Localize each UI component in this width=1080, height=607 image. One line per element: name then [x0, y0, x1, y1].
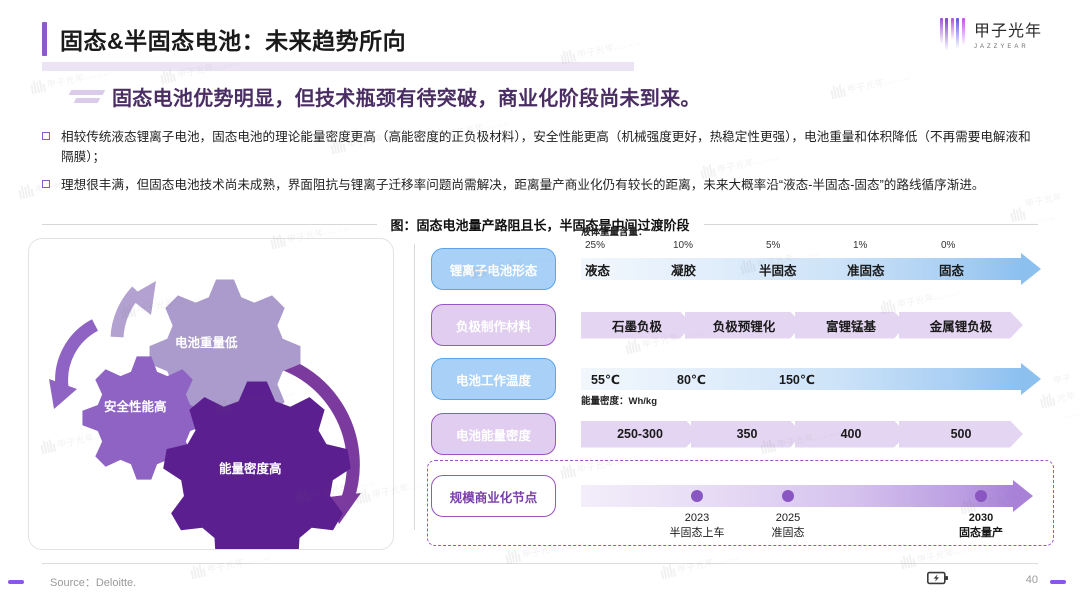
subtitle-label: 固态电池优势明显，但技术瓶颈有待突破，商业化阶段尚未到来。: [112, 82, 701, 111]
row-track: 液体重量含量： 25% 10% 5% 1% 0% 液态 凝胶 半固态 准固态: [581, 258, 1041, 280]
tick-label: 25%: [585, 240, 605, 251]
milestone-label: 2030 固态量产: [936, 511, 1026, 541]
tick-label: 10%: [673, 240, 693, 251]
row-caption: 液体重量含量：: [581, 224, 648, 238]
stage-value: 80℃: [677, 368, 706, 390]
milestone-dot: [782, 490, 794, 502]
stage-value: 液态: [585, 258, 610, 280]
gear-label-weight: 电池重量低: [175, 332, 238, 351]
stage-value: 55℃: [591, 368, 620, 390]
chevron-sequence: 石墨负极 负极预锂化 富锂锰基 金属锂负极: [581, 312, 1041, 339]
row-label-pill[interactable]: 电池能量密度: [431, 413, 556, 455]
milestone-text: 固态量产: [936, 526, 1026, 541]
chevron-item: 富锂锰基: [795, 312, 907, 339]
chevron-item: 石墨负极: [581, 312, 693, 339]
page-number: 40: [1026, 574, 1038, 586]
figure-rule-right: [704, 224, 1039, 225]
figure-body: 电池重量低 安全性能高 能量密度高 锂离子电池形态 液体重量含量： 25% 10…: [28, 238, 1052, 550]
tick-label: 5%: [766, 240, 780, 251]
bullet-text: 相较传统液态锂离子电池，固态电池的理论能量密度更高（高能密度的正负极材料），安全…: [61, 128, 1040, 167]
timeline-arrow: 2023 半固态上车 2025 准固态 2030 固态量产: [581, 485, 1041, 507]
tick-labels: 25% 10% 5% 1% 0%: [581, 240, 1021, 254]
source-label: Source：Deloitte.: [50, 574, 136, 590]
row-label-pill[interactable]: 锂离子电池形态: [431, 248, 556, 290]
subtitle-slash-decoration: [70, 90, 104, 103]
stage-value: 半固态: [759, 258, 797, 280]
watermark: 甲子光年JAZZYEAR: [189, 547, 272, 581]
vertical-divider: [414, 244, 415, 530]
logo-english-name: JAZZYEAR: [974, 44, 1042, 50]
title-underline: [42, 62, 634, 71]
milestone-text: 半固态上车: [652, 526, 742, 541]
diagram-row-anode-material: 负极制作材料 石墨负极 负极预锂化 富锂锰基 金属锂负极: [431, 304, 1041, 346]
figure-rule-left: [42, 224, 377, 225]
stage-value: 准固态: [847, 258, 885, 280]
chevron-item: 400: [795, 421, 907, 448]
figure-title: 图：固态电池量产路阻且长，半固态是中间过渡阶段: [0, 215, 1080, 234]
row-label-pill[interactable]: 电池工作温度: [431, 358, 556, 400]
milestone-year: 2023: [652, 511, 742, 526]
gradient-arrow-bar: 55℃ 80℃ 150℃: [581, 368, 1041, 390]
diagram-row-battery-form: 锂离子电池形态 液体重量含量： 25% 10% 5% 1% 0% 液态 凝胶 半…: [431, 248, 1041, 290]
footer-dash-right: [1050, 580, 1066, 584]
title-label: 固态&半固态电池：未来趋势所向: [47, 22, 406, 56]
row-track: 石墨负极 负极预锂化 富锂锰基 金属锂负极: [581, 312, 1041, 339]
row-label-pill[interactable]: 负极制作材料: [431, 304, 556, 346]
watermark: 甲子光年JAZZYEAR: [829, 67, 912, 101]
milestone-year: 2030: [936, 511, 1026, 526]
footer-divider: [42, 563, 1038, 564]
milestone-dot: [975, 490, 987, 502]
stage-value: 凝胶: [671, 258, 696, 280]
battery-charging-icon: [927, 571, 949, 585]
brand-logo: 甲子光年 JAZZYEAR: [940, 18, 1042, 52]
page-title: 固态&半固态电池：未来趋势所向: [42, 22, 406, 56]
milestone-dot: [691, 490, 703, 502]
chevron-item: 500: [899, 421, 1023, 448]
row-track: 55℃ 80℃ 150℃: [581, 368, 1041, 390]
bullet-square-icon: [42, 180, 50, 188]
logo-chinese-name: 甲子光年: [974, 24, 1042, 40]
tick-label: 0%: [941, 240, 955, 251]
list-item: 理想很丰满，但固态电池技术尚未成熟，界面阻抗与锂离子迁移率问题尚需解决，距离量产…: [42, 176, 1040, 196]
tick-label: 1%: [853, 240, 867, 251]
milestone-year: 2025: [743, 511, 833, 526]
gear-label-energy: 能量密度高: [219, 458, 282, 477]
logo-bars-icon: [940, 18, 965, 52]
chevron-item: 350: [691, 421, 803, 448]
stage-value: 150℃: [779, 368, 815, 390]
stage-value: 固态: [939, 258, 964, 280]
list-item: 相较传统液态锂离子电池，固态电池的理论能量密度更高（高能密度的正负极材料），安全…: [42, 128, 1040, 167]
milestone-label: 2025 准固态: [743, 511, 833, 541]
diagram-row-commercialization-timeline: 规模商业化节点 2023 半固态上车 2025 准固态: [431, 475, 1041, 517]
process-diagram: 锂离子电池形态 液体重量含量： 25% 10% 5% 1% 0% 液态 凝胶 半…: [431, 238, 1052, 550]
watermark: 甲子光年JAZZYEAR: [659, 547, 742, 581]
diagram-row-operating-temp: 电池工作温度 55℃ 80℃ 150℃: [431, 358, 1041, 400]
bullet-list: 相较传统液态锂离子电池，固态电池的理论能量密度更高（高能密度的正负极材料），安全…: [42, 128, 1040, 205]
milestone-label: 2023 半固态上车: [652, 511, 742, 541]
gradient-arrow-bar: 25% 10% 5% 1% 0% 液态 凝胶 半固态 准固态 固态: [581, 258, 1041, 280]
gear-label-safety: 安全性能高: [104, 396, 167, 415]
row-label-pill[interactable]: 规模商业化节点: [431, 475, 556, 517]
gear-diagram-svg: [29, 239, 394, 550]
milestone-text: 准固态: [743, 526, 833, 541]
chevron-item: 金属锂负极: [899, 312, 1023, 339]
gear-diagram-card: 电池重量低 安全性能高 能量密度高: [28, 238, 394, 550]
chevron-item: 负极预锂化: [685, 312, 803, 339]
diagram-row-energy-density: 电池能量密度 能量密度：Wh/kg 250-300 350 400 500: [431, 413, 1041, 455]
bullet-text: 理想很丰满，但固态电池技术尚未成熟，界面阻抗与锂离子迁移率问题尚需解决，距离量产…: [61, 176, 985, 196]
row-track: 能量密度：Wh/kg 250-300 350 400 500: [581, 421, 1041, 448]
footer-dash-left: [8, 580, 24, 584]
bullet-square-icon: [42, 132, 50, 140]
chevron-item: 250-300: [581, 421, 699, 448]
row-track: 2023 半固态上车 2025 准固态 2030 固态量产: [581, 485, 1041, 507]
chevron-sequence: 250-300 350 400 500: [581, 421, 1041, 448]
row-caption: 能量密度：Wh/kg: [581, 393, 657, 407]
subtitle-block: 固态电池优势明显，但技术瓶颈有待突破，商业化阶段尚未到来。: [70, 82, 701, 111]
